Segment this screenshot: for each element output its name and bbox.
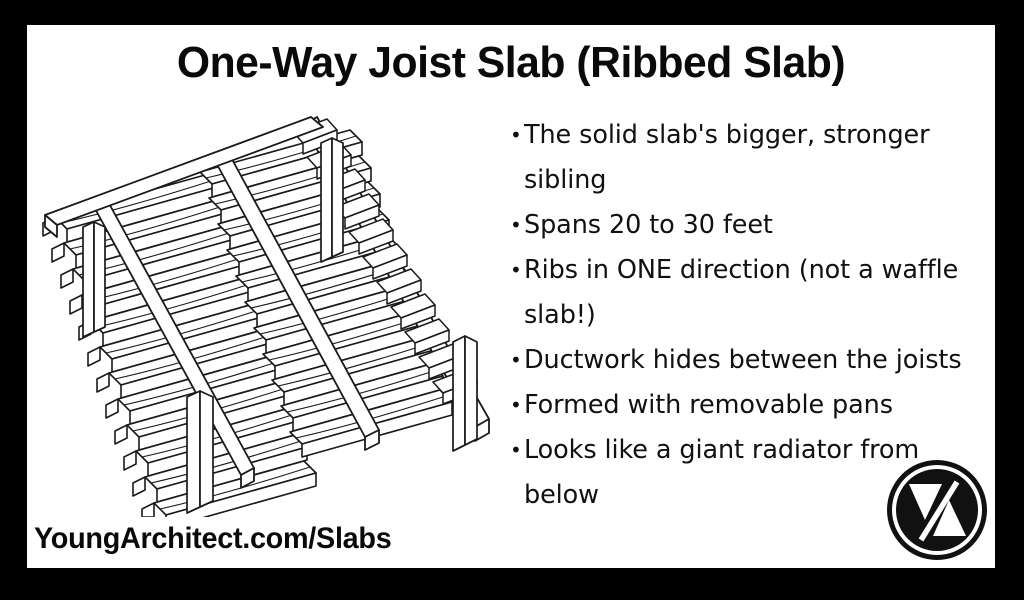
list-item: • Ductwork hides between the joists bbox=[510, 338, 990, 383]
column-back-right bbox=[321, 138, 343, 262]
slide-frame: One-Way Joist Slab (Ribbed Slab) bbox=[0, 0, 1024, 600]
list-item-label: Ductwork hides between the joists bbox=[524, 338, 990, 383]
list-item-label: Spans 20 to 30 feet bbox=[524, 203, 990, 248]
list-item-label: Ribs in ONE direction (not a waffle slab… bbox=[524, 248, 990, 338]
young-architect-logo bbox=[885, 458, 989, 562]
column-back-left bbox=[83, 222, 105, 337]
slab-assembly bbox=[43, 117, 489, 517]
list-item: • Spans 20 to 30 feet bbox=[510, 203, 990, 248]
list-item: • Formed with removable pans bbox=[510, 383, 990, 428]
list-item-label: The solid slab's bigger, stronger siblin… bbox=[524, 113, 990, 203]
logo-badge-icon bbox=[885, 458, 989, 562]
bullet-marker-icon: • bbox=[510, 113, 524, 158]
footer-website-url: YoungArchitect.com/Slabs bbox=[34, 522, 391, 556]
list-item: • The solid slab's bigger, stronger sibl… bbox=[510, 113, 990, 203]
column-front-left bbox=[187, 391, 213, 513]
bullet-marker-icon: • bbox=[510, 248, 524, 293]
page-title: One-Way Joist Slab (Ribbed Slab) bbox=[42, 37, 981, 89]
bullet-marker-icon: • bbox=[510, 338, 524, 383]
joist-slab-illustration bbox=[35, 97, 505, 517]
bullet-marker-icon: • bbox=[510, 428, 524, 473]
one-way-joist-slab-diagram bbox=[35, 97, 505, 517]
bullet-marker-icon: • bbox=[510, 383, 524, 428]
bullet-marker-icon: • bbox=[510, 203, 524, 248]
list-item-label: Formed with removable pans bbox=[524, 383, 990, 428]
list-item: • Ribs in ONE direction (not a waffle sl… bbox=[510, 248, 990, 338]
column-front-right bbox=[453, 336, 477, 451]
slide-content-card: One-Way Joist Slab (Ribbed Slab) bbox=[27, 25, 995, 568]
